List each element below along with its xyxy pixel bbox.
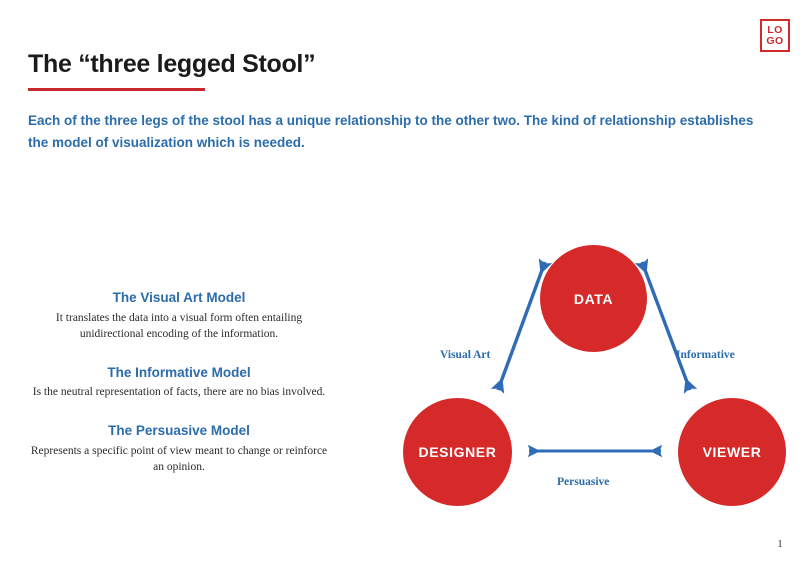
slide-canvas: LO GO The “three legged Stool” Each of t…	[0, 0, 812, 575]
diagram-node-label: DATA	[574, 291, 613, 307]
model-description: Is the neutral representation of facts, …	[29, 384, 329, 400]
edge-label-visual-art: Visual Art	[440, 349, 490, 361]
logo-line-2: GO	[766, 36, 783, 47]
model-title: The Visual Art Model	[14, 290, 344, 307]
page-subtitle: Each of the three legs of the stool has …	[28, 110, 768, 155]
model-block-visual-art: The Visual Art Model It translates the d…	[14, 290, 344, 343]
diagram-node-label: DESIGNER	[419, 444, 497, 460]
diagram-node-viewer[interactable]: VIEWER	[678, 398, 786, 506]
title-underline-rule	[28, 88, 205, 91]
diagram-node-designer[interactable]: DESIGNER	[403, 398, 512, 506]
model-block-informative: The Informative Model Is the neutral rep…	[14, 365, 344, 401]
page-title: The “three legged Stool”	[28, 50, 315, 79]
model-block-persuasive: The Persuasive Model Represents a specif…	[14, 423, 344, 476]
diagram-node-label: VIEWER	[703, 444, 762, 460]
model-description: Represents a specific point of view mean…	[29, 443, 329, 476]
page-number: 1	[770, 538, 790, 550]
diagram-node-data[interactable]: DATA	[540, 245, 647, 352]
edge-label-informative: Informative	[676, 349, 735, 361]
logo-line-1: LO	[767, 25, 783, 36]
model-title: The Persuasive Model	[14, 423, 344, 440]
arrow-visual-art	[498, 262, 545, 390]
arrow-informative	[642, 262, 690, 390]
model-title: The Informative Model	[14, 365, 344, 382]
model-list: The Visual Art Model It translates the d…	[14, 290, 344, 475]
three-legged-stool-diagram: DATA DESIGNER VIEWER Visual Art Informat…	[390, 230, 802, 522]
model-description: It translates the data into a visual for…	[29, 310, 329, 343]
edge-label-persuasive: Persuasive	[557, 476, 609, 488]
logo: LO GO	[760, 19, 790, 52]
